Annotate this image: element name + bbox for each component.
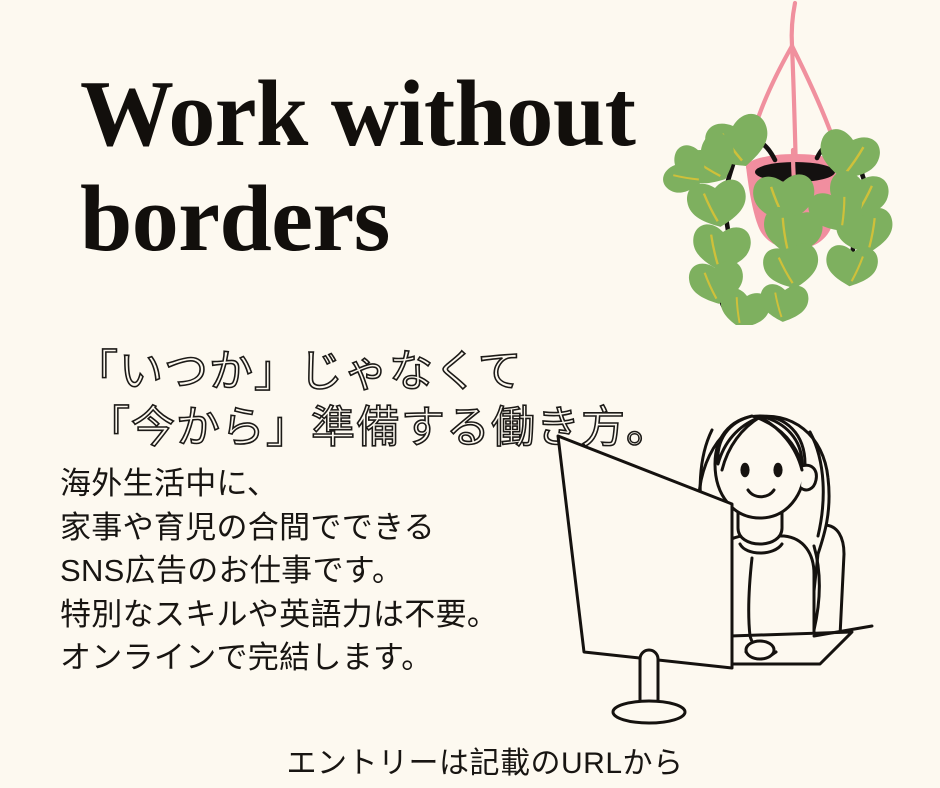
monitor-base <box>613 701 685 723</box>
subtitle-line-1: 「いつか」じゃなくて <box>74 347 523 396</box>
ear <box>801 465 816 490</box>
entry-caption: エントリーは記載のURLから <box>0 744 940 784</box>
woman-at-computer-illustration <box>552 378 940 726</box>
hanging-plant-illustration <box>655 0 940 325</box>
chair-back <box>824 525 844 636</box>
poster-canvas: Work without borders 「いつか」じゃなくて 「今から」準備す… <box>0 0 940 788</box>
eye-right <box>773 463 782 477</box>
page-title: Work without borders <box>80 62 640 272</box>
body-copy: 海外生活中に、 家事や育児の合間でできる SNS広告のお仕事です。 特別なスキル… <box>60 462 580 680</box>
hand-fill <box>746 641 774 659</box>
plant-leaves <box>659 110 896 325</box>
eye-left <box>740 463 749 477</box>
